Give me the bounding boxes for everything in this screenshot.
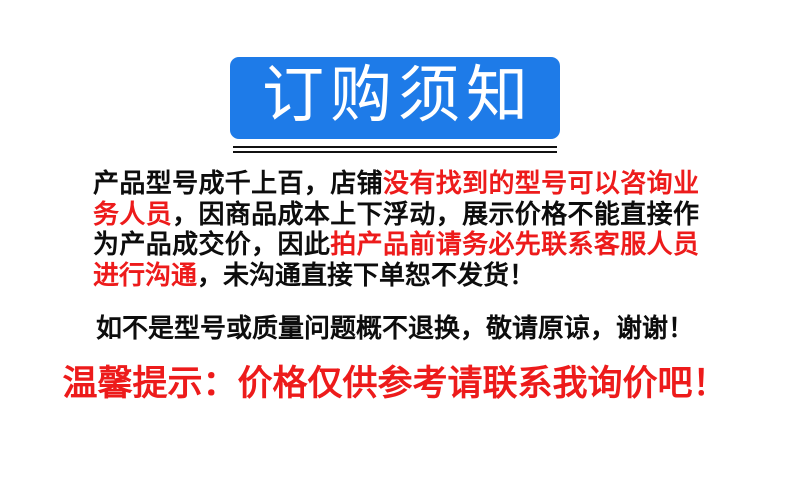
return-policy-line: 如不是型号或质量问题概不退换，敬请原谅，谢谢！: [0, 311, 790, 345]
ordering-notice-banner: 订购须知 产品型号成千上百，店铺没有找到的型号可以咨询业务人员，因商品成本上下浮…: [0, 0, 790, 500]
body-paragraph: 产品型号成千上百，店铺没有找到的型号可以咨询业务人员，因商品成本上下浮动，展示价…: [93, 168, 699, 290]
warm-tip-line: 温馨提示：价格仅供参考请联系我询价吧！: [0, 362, 790, 406]
divider-line-bottom: [233, 151, 557, 153]
divider: [233, 146, 557, 154]
title-badge: 订购须知: [230, 57, 560, 139]
body-segment-1: 产品型号成千上百，店铺: [93, 168, 383, 198]
page-title: 订购须知: [256, 63, 534, 129]
body-segment-5: ，未沟通直接下单恕不发货！: [197, 260, 535, 290]
title-block: 订购须知: [0, 57, 790, 139]
